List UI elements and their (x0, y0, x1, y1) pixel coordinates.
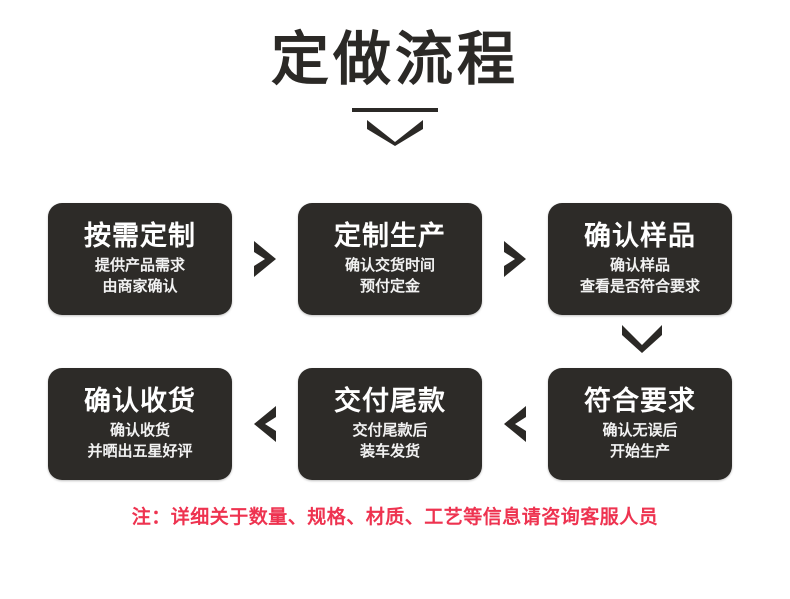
step-subtitle-line1: 交付尾款后 (352, 420, 427, 441)
page-title: 定做流程 (0, 24, 790, 96)
step-subtitle-line1: 提供产品需求 (95, 255, 185, 276)
step-subtitle-line1: 确认样品 (580, 255, 700, 276)
step-subtitle: 确认样品 查看是否符合要求 (580, 255, 700, 297)
step-box-6[interactable]: 确认收货 确认收货 并晒出五星好评 (48, 368, 232, 480)
step-subtitle: 交付尾款后 装车发货 (352, 420, 427, 462)
step-subtitle-line2: 由商家确认 (95, 276, 185, 297)
flow-diagram-page: 定做流程 按需定制 提供产品需求 由商家确认 定制生产 确认交货时间 预 (0, 0, 790, 599)
chevron-left-icon-2 (489, 368, 541, 480)
row-connector-chevron-down-icon (612, 322, 672, 354)
step-subtitle: 提供产品需求 由商家确认 (95, 255, 185, 297)
chevron-right-icon-1 (239, 203, 291, 315)
step-box-2[interactable]: 定制生产 确认交货时间 预付定金 (298, 203, 482, 315)
step-title: 确认收货 (84, 384, 196, 418)
step-subtitle-line1: 确认无误后 (602, 420, 677, 441)
step-title: 确认样品 (584, 219, 696, 253)
step-subtitle: 确认收货 并晒出五星好评 (87, 420, 192, 462)
step-subtitle-line2: 预付定金 (345, 276, 435, 297)
step-subtitle: 确认交货时间 预付定金 (345, 255, 435, 297)
title-divider (352, 108, 438, 112)
step-title: 交付尾款 (334, 384, 446, 418)
step-title: 符合要求 (584, 384, 696, 418)
step-subtitle-line2: 开始生产 (602, 441, 677, 462)
step-title: 按需定制 (84, 219, 196, 253)
step-box-5[interactable]: 交付尾款 交付尾款后 装车发货 (298, 368, 482, 480)
step-box-1[interactable]: 按需定制 提供产品需求 由商家确认 (48, 203, 232, 315)
flow-row-two: 确认收货 确认收货 并晒出五星好评 交付尾款 交付尾款后 装车发货 符合要求 (48, 368, 732, 480)
step-box-4[interactable]: 符合要求 确认无误后 开始生产 (548, 368, 732, 480)
step-subtitle-line2: 装车发货 (352, 441, 427, 462)
step-title: 定制生产 (334, 219, 446, 253)
flow-row-one: 按需定制 提供产品需求 由商家确认 定制生产 确认交货时间 预付定金 确认样 (48, 203, 732, 315)
step-subtitle-line1: 确认收货 (87, 420, 192, 441)
title-chevron-down-icon (365, 120, 425, 146)
step-subtitle-line2: 查看是否符合要求 (580, 276, 700, 297)
footer-note: 注：详细关于数量、规格、材质、工艺等信息请咨询客服人员 (0, 505, 790, 531)
chevron-right-icon-2 (489, 203, 541, 315)
step-subtitle-line1: 确认交货时间 (345, 255, 435, 276)
step-subtitle-line2: 并晒出五星好评 (87, 441, 192, 462)
chevron-left-icon-1 (239, 368, 291, 480)
step-subtitle: 确认无误后 开始生产 (602, 420, 677, 462)
page-header: 定做流程 (0, 24, 790, 146)
step-box-3[interactable]: 确认样品 确认样品 查看是否符合要求 (548, 203, 732, 315)
